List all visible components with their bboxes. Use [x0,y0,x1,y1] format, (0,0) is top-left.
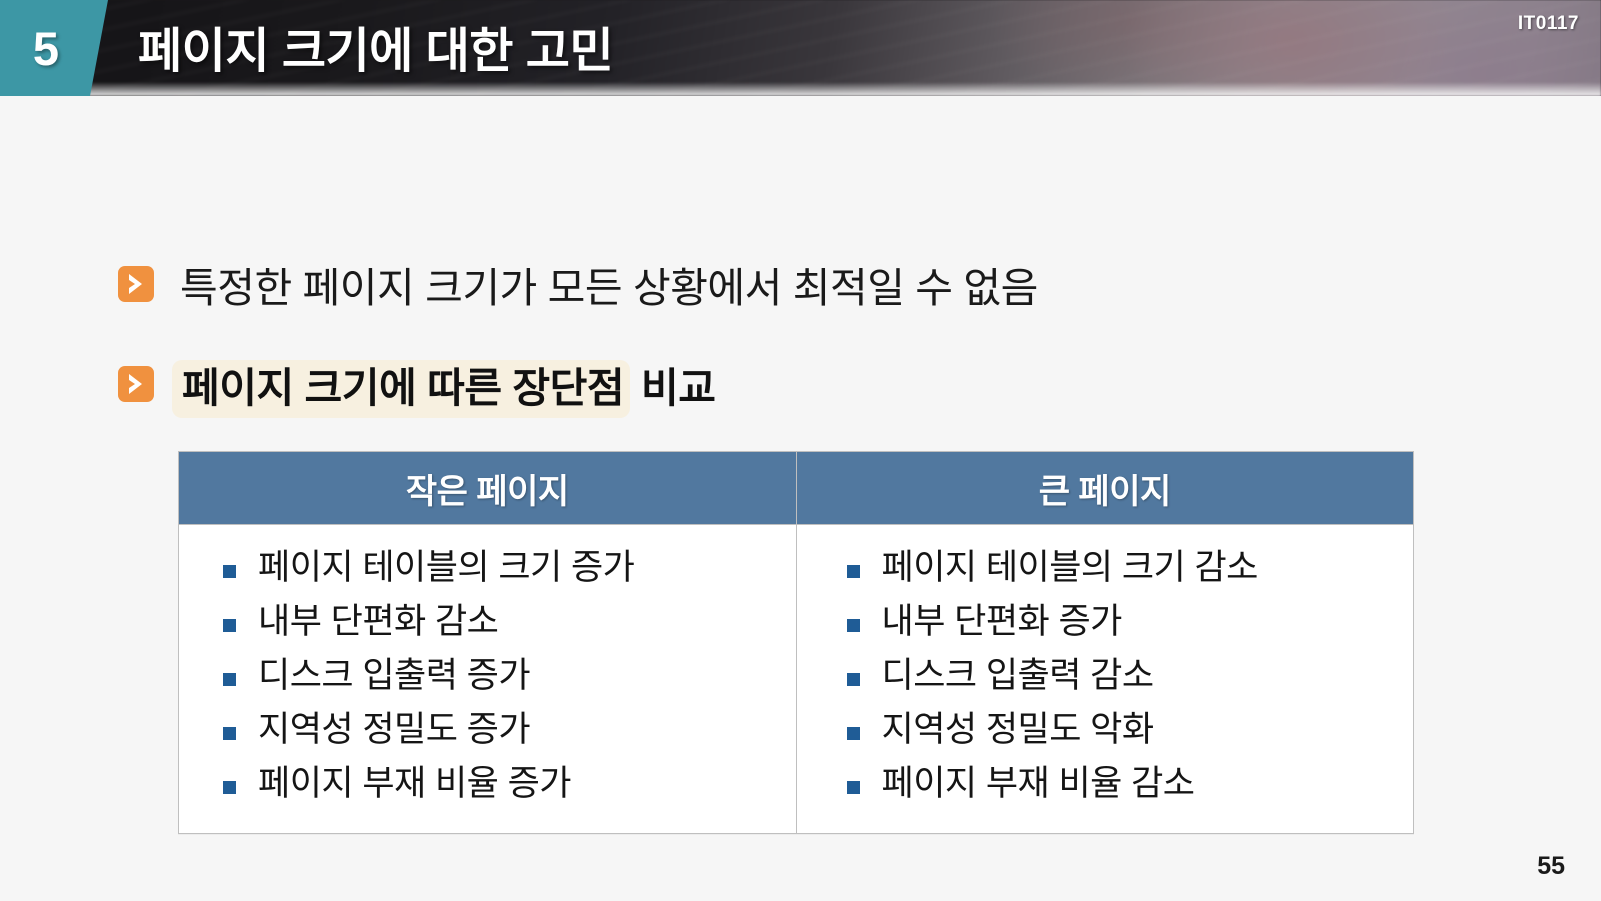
table-header-large-page: 큰 페이지 [796,452,1414,525]
course-code: IT0117 [1518,13,1579,35]
table-cell-large-page: 페이지 테이블의 크기 감소 내부 단편화 증가 디스크 입출력 감소 [796,525,1414,834]
square-bullet-icon [223,565,236,578]
list-item-label: 페이지 부재 비율 감소 [882,766,1195,801]
bullet-item-2-trailing: 비교 [630,365,715,411]
square-bullet-icon [223,727,236,740]
square-bullet-icon [223,619,236,632]
bullet-item-2-highlight: 페이지 크기에 따른 장단점 [172,360,630,418]
slide: 5 페이지 크기에 대한 고민 IT0117 특정한 페이지 크기가 모든 상황… [0,0,1601,901]
list-item: 디스크 입출력 증가 [179,649,796,703]
square-bullet-icon [223,673,236,686]
slide-body: 특정한 페이지 크기가 모든 상황에서 최적일 수 없음 페이지 크기에 따른 … [0,96,1601,901]
page-title: 페이지 크기에 대한 고민 [138,0,613,92]
list-item-label: 디스크 입출력 증가 [258,658,530,693]
list-item: 내부 단편화 증가 [797,595,1414,649]
square-bullet-icon [847,619,860,632]
square-bullet-icon [847,565,860,578]
list-item-label: 지역성 정밀도 악화 [882,712,1154,747]
page-number: 55 [1537,852,1565,881]
chevron-right-icon [118,366,154,402]
table-header-row: 작은 페이지 큰 페이지 [179,452,1414,525]
list-item-label: 내부 단편화 감소 [258,604,498,639]
chevron-right-icon [118,266,154,302]
square-bullet-icon [847,673,860,686]
list-item: 페이지 부재 비율 증가 [179,757,796,811]
bullet-item-2-label: 페이지 크기에 따른 장단점 비교 [180,354,715,414]
bullet-item-2: 페이지 크기에 따른 장단점 비교 [118,354,715,414]
list-item: 내부 단편화 감소 [179,595,796,649]
list-item: 페이지 테이블의 크기 감소 [797,541,1414,595]
list-item-label: 페이지 부재 비율 증가 [258,766,571,801]
list-item-label: 지역성 정밀도 증가 [258,712,530,747]
square-bullet-icon [847,727,860,740]
table-row: 페이지 테이블의 크기 증가 내부 단편화 감소 디스크 입출력 증가 [179,525,1414,834]
square-bullet-icon [223,781,236,794]
square-bullet-icon [847,781,860,794]
large-page-list: 페이지 테이블의 크기 감소 내부 단편화 증가 디스크 입출력 감소 [797,541,1414,811]
list-item: 디스크 입출력 감소 [797,649,1414,703]
list-item-label: 페이지 테이블의 크기 감소 [882,550,1258,585]
list-item: 페이지 부재 비율 감소 [797,757,1414,811]
list-item-label: 내부 단편화 증가 [882,604,1122,639]
list-item-label: 페이지 테이블의 크기 증가 [258,550,634,585]
small-page-list: 페이지 테이블의 크기 증가 내부 단편화 감소 디스크 입출력 증가 [179,541,796,811]
bullet-item-1-label: 특정한 페이지 크기가 모든 상황에서 최적일 수 없음 [180,254,1038,314]
list-item: 페이지 테이블의 크기 증가 [179,541,796,595]
page-size-comparison-table: 작은 페이지 큰 페이지 페이지 테이블의 크기 증가 [178,451,1414,834]
slide-header: 5 페이지 크기에 대한 고민 IT0117 [0,0,1601,96]
chapter-number: 5 [0,0,92,96]
bullet-item-1: 특정한 페이지 크기가 모든 상황에서 최적일 수 없음 [118,254,1038,314]
list-item-label: 디스크 입출력 감소 [882,658,1154,693]
table-header-small-page: 작은 페이지 [179,452,797,525]
table-cell-small-page: 페이지 테이블의 크기 증가 내부 단편화 감소 디스크 입출력 증가 [179,525,797,834]
list-item: 지역성 정밀도 악화 [797,703,1414,757]
list-item: 지역성 정밀도 증가 [179,703,796,757]
